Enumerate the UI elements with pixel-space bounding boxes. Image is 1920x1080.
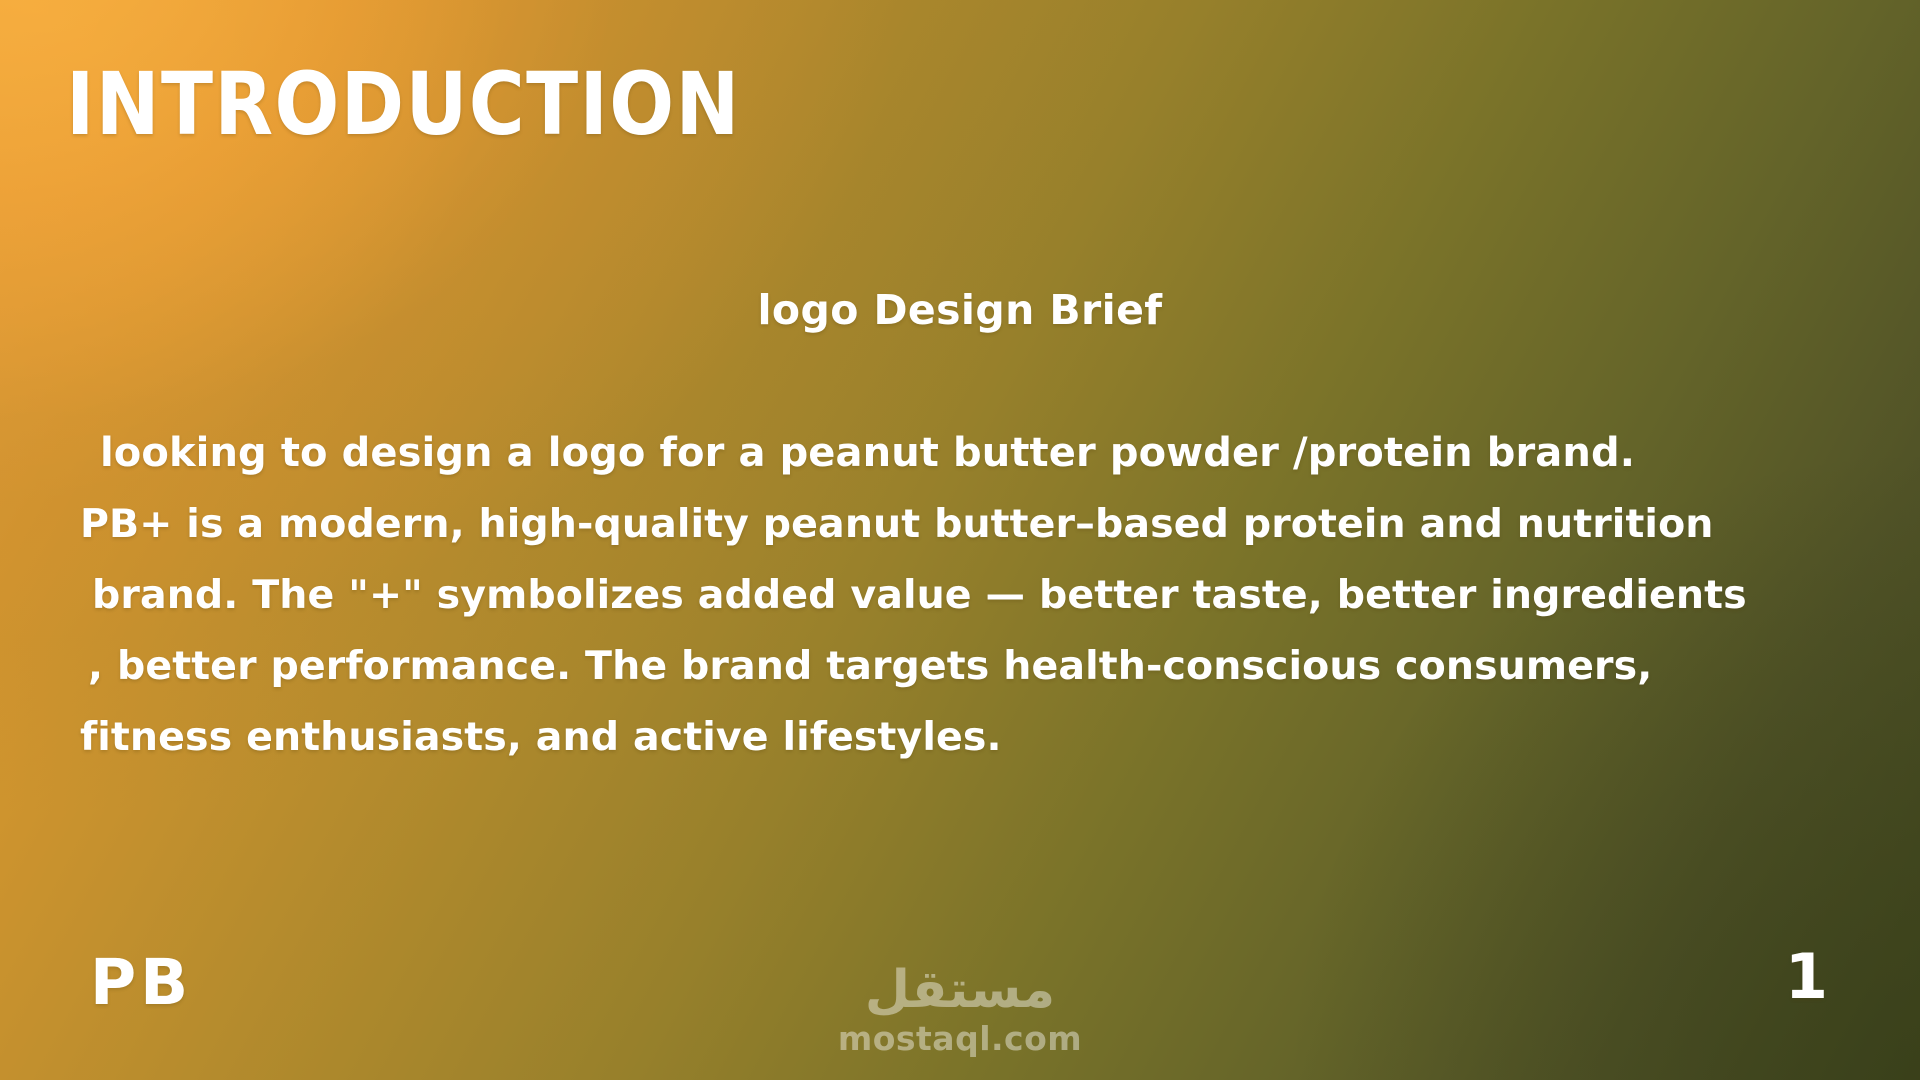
brief-body-line-4: , better performance. The brand targets …: [70, 631, 1860, 702]
mostaql-watermark: مستقل mostaql.com: [838, 963, 1082, 1058]
brief-body-line-2: PB+ is a modern, high-quality peanut but…: [70, 489, 1860, 560]
brief-body-line-3: brand. The "+" symbolizes added value — …: [70, 560, 1860, 631]
brief-subtitle: logo Design Brief: [0, 286, 1920, 334]
brief-body-line-5: fitness enthusiasts, and active lifestyl…: [70, 702, 1860, 773]
brief-body-text: looking to design a logo for a peanut bu…: [70, 418, 1860, 773]
brief-body-line-1: looking to design a logo for a peanut bu…: [70, 418, 1860, 489]
page-title: INTRODUCTION: [66, 62, 741, 149]
watermark-arabic-logo: مستقل: [865, 963, 1055, 1018]
page-number: 1: [1785, 946, 1828, 1008]
watermark-domain-text: mostaql.com: [838, 1020, 1082, 1058]
brand-mark-logo: PB: [90, 951, 192, 1014]
presentation-slide: INTRODUCTION logo Design Brief looking t…: [0, 0, 1920, 1080]
